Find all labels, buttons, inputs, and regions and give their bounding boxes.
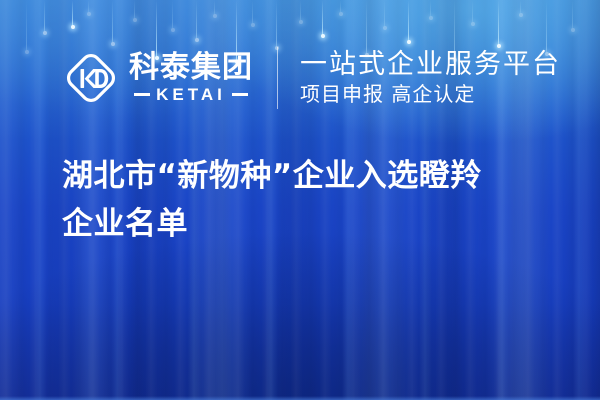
light-streak-icon (408, 0, 409, 42)
header-taglines: 一站式企业服务平台 项目申报 高企认定 (300, 50, 561, 106)
brand-name-en: KETAI (156, 86, 226, 103)
ketai-diamond-kd-logo-icon (62, 49, 120, 107)
light-streak-icon (172, 0, 173, 30)
brand-wordmark: 科泰集团 KETAI (129, 53, 253, 103)
light-streak-icon (44, 0, 45, 33)
light-streak-icon (88, 0, 89, 14)
dash-right-icon (232, 93, 248, 96)
light-streak-icon (72, 0, 73, 27)
header-divider (277, 47, 278, 109)
brand-name-en-row: KETAI (129, 86, 253, 103)
light-streak-icon (252, 0, 253, 25)
light-streak-icon (384, 0, 385, 28)
light-streak-icon (112, 0, 113, 44)
light-streak-icon (196, 0, 197, 40)
brand-logo[interactable]: 科泰集团 KETAI (62, 49, 253, 107)
page-title-line-2: 企业名单 (62, 200, 562, 248)
page-title: 湖北市“新物种”企业入选瞪羚 企业名单 (62, 152, 562, 249)
light-streak-icon (572, 0, 573, 30)
page-title-line-1: 湖北市“新物种”企业入选瞪羚 (62, 152, 562, 200)
light-streak-icon (214, 0, 215, 16)
light-streak-icon (300, 0, 301, 22)
light-streak-icon (472, 0, 473, 24)
tagline-primary: 一站式企业服务平台 (300, 50, 561, 80)
background-bottom-edge (0, 396, 600, 400)
tagline-secondary: 项目申报 高企认定 (300, 83, 561, 105)
light-streak-icon (322, 0, 323, 36)
brand-name-cn: 科泰集团 (129, 53, 253, 84)
light-streak-icon (430, 0, 431, 18)
banner-header: 科泰集团 KETAI 一站式企业服务平台 项目申报 高企认定 (0, 40, 600, 116)
light-streak-icon (520, 0, 521, 15)
promo-banner: 科泰集团 KETAI 一站式企业服务平台 项目申报 高企认定 湖北市“新物种”企… (0, 0, 600, 400)
dash-left-icon (134, 93, 150, 96)
light-streak-icon (340, 0, 341, 14)
light-streak-icon (134, 0, 135, 20)
